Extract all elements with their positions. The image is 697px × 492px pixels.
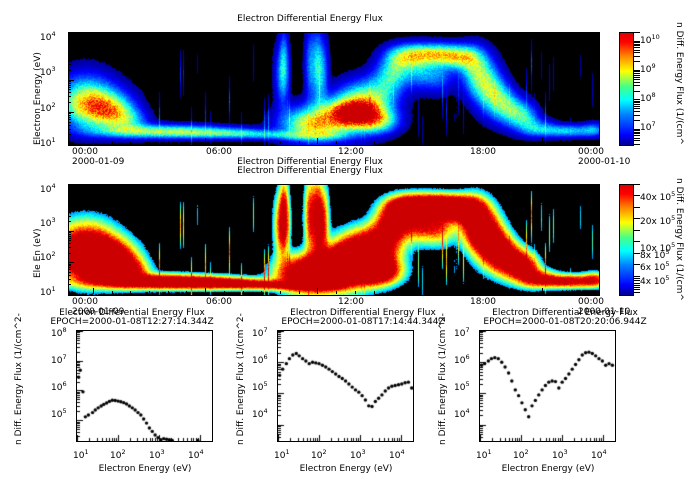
colorbar-tick [633,133,640,134]
colorbar-tick [633,82,640,83]
s3-ytick-5: 105 [454,380,470,393]
colorbar-tick [633,101,640,102]
top-spec-ytick [68,55,71,56]
s3-xtick-2: 102 [513,448,529,461]
colorbar-tick [633,61,640,62]
mid-spec-xtick [355,291,356,294]
top-spec-xtick [486,141,487,144]
top-spec-ytick [68,51,71,52]
top-spec-xtick [280,141,281,144]
top-spec-ytick [68,81,71,82]
top-spec-ytick [68,60,71,61]
top-spec-ytick [68,70,71,71]
mid-spec-ytick [68,264,71,265]
mid-xtick-1: 06:00 [206,297,232,307]
middle-colorbar[interactable] [619,184,634,296]
mid-spec-xtick [317,288,318,294]
top-spec-xtick [186,141,187,144]
top-spec-xtick [523,141,524,144]
s1-xtick-2: 102 [110,448,126,461]
mid-spec-xtick [523,291,524,294]
top-ytick-3: 103 [40,65,56,78]
top-spec-xtick [579,141,580,144]
top-spec-ytick [68,49,71,50]
top-spec-ytick [68,119,71,120]
spectrum-1-plot[interactable] [76,330,213,442]
colorbar-tick [633,56,640,57]
colorbar-tick [633,108,640,109]
colorbar-tick [633,280,640,281]
mid-spec-ytick [68,234,71,235]
top-spec-ytick [68,80,74,81]
top-spec-xtick [392,141,393,144]
mid-spec-xtick [243,291,244,294]
mid-spec-ytick [68,212,71,213]
mid-spec-ytick [68,284,71,285]
s2-xtick-3: 103 [350,448,366,461]
top-spec-ytick [68,32,71,33]
colorbar-tick [633,138,640,139]
mid-spec-ytick [68,209,71,210]
top-xtick-3: 18:00 [470,147,496,157]
colorbar-tick [633,104,640,105]
mid-cbtick-4: 4x 105 [640,274,670,287]
mid-spec-xtick [374,291,375,294]
colorbar-tick [633,292,640,293]
colorbar-tick [633,144,640,145]
colorbar-tick [633,32,640,33]
middle-spectrogram-plot[interactable] [68,184,600,296]
top-spec-ytick [68,87,71,88]
mid-spec-ytick [68,262,74,263]
top-spec-xtick [374,141,375,144]
colorbar-tick [633,253,640,254]
mid-spec-ytick [68,202,71,203]
mid-spec-ytick [68,269,71,270]
s2-xtick-4: 104 [389,448,405,461]
s1-xtick-4: 104 [188,448,204,461]
top-spec-xtick [130,141,131,144]
mid-spec-xtick [168,291,169,294]
mid-ytick-1: 101 [40,285,56,298]
spectrum-1-xlabel: Electron Energy (eV) [60,464,230,474]
colorbar-tick [633,135,640,136]
colorbar-tick [633,99,640,100]
top-spec-ytick [68,112,74,113]
colorbar-tick [633,52,640,53]
spectrum-3-plot[interactable] [479,330,616,442]
top-spec-ytick [68,85,71,86]
colorbar-tick [633,287,640,288]
colorbar-tick [633,77,640,78]
mid-spec-ytick [68,279,71,280]
s2-xtick-2: 102 [311,448,327,461]
s2-ytick-5: 105 [252,380,268,393]
top-spec-ytick [68,122,71,123]
top-spec-ytick [68,64,71,65]
colorbar-tick [633,195,640,196]
mid-spec-xtick [186,291,187,294]
top-spec-ytick [68,52,71,53]
colorbar-tick [633,50,640,51]
top-spec-xtick [411,141,412,144]
mid-spec-ytick [68,184,71,185]
mid-spec-xtick [93,288,94,294]
top-spec-ytick [68,57,71,58]
mid-spec-xtick [149,291,150,294]
colorbar-tick [633,75,640,76]
colorbar-tick [633,130,640,131]
mid-spec-ytick [68,236,71,237]
top-spec-ytick [68,102,71,103]
top-spec-xtick [355,141,356,144]
mid-spec-ytick [68,267,71,268]
mid-spec-ytick [68,206,71,207]
s1-ytick-7: 107 [51,353,67,366]
top-spec-ytick [68,113,71,114]
mid-spec-xtick [542,288,543,294]
top-xtick-0: 00:00 [72,147,98,157]
top-cbtick-9: 109 [640,62,656,75]
s3-xtick-4: 104 [591,448,607,461]
s3-xtick-3: 103 [552,448,568,461]
s2-ytick-6: 106 [252,353,268,366]
s3-xtick-1: 101 [476,448,492,461]
s1-ytick-5: 105 [51,407,67,420]
mid-spec-ytick [68,238,71,239]
top-ytick-2: 102 [40,101,56,114]
mid-ytick-4: 104 [40,182,56,195]
colorbar-tick [633,283,640,284]
mid-ytick-2: 102 [40,250,56,263]
mid-spec-xtick [112,291,113,294]
mid-spec-xtick [430,288,431,294]
top-spec-ytick [68,83,71,84]
colorbar-tick [633,71,640,72]
top-spec-xtick [448,141,449,144]
top-spec-xtick [243,141,244,144]
mid-spec-xtick [261,291,262,294]
mid-spec-ytick [68,247,71,248]
top-panel-title: Electron Differential Energy Flux [0,14,620,24]
spectrum-3-subtitle: EPOCH=2000-01-08T20:20:06.944Z [455,317,675,327]
mid-spec-ytick [68,221,71,222]
colorbar-tick [633,111,640,112]
mid-spec-ytick [68,232,71,233]
top-cbtick-8: 108 [640,91,656,104]
top-cbtick-10: 1010 [640,33,660,46]
colorbar-tick [633,41,640,42]
spectrum-2-xlabel: Electron Energy (eV) [261,464,431,474]
middle-panel-title: Electron Differential Energy Flux [0,166,620,176]
mid-cbtick-20: 20x 105 [640,214,675,227]
top-xtick-4: 00:00 [578,147,604,157]
mid-xtick-0: 00:00 [72,297,98,307]
colorbar-tick [633,285,640,286]
mid-ytick-3: 103 [40,216,56,229]
mid-spec-xtick [392,291,393,294]
mid-spec-xtick [504,291,505,294]
colorbar-tick [633,45,640,46]
s3-ytick-4: 104 [454,407,470,420]
colorbar-tick [633,264,640,265]
top-spec-ytick [68,115,71,116]
top-spec-xtick [149,141,150,144]
s2-xtick-1: 101 [274,448,290,461]
s2-ytick-7: 107 [252,326,268,339]
figure-canvas: Electron Differential Energy Flux Electr… [0,0,697,492]
top-spec-ytick [68,129,71,130]
colorbar-tick [633,230,640,231]
colorbar-tick [633,91,640,92]
s1-ytick-6: 106 [51,380,67,393]
top-spec-xtick [317,138,318,144]
colorbar-tick [633,115,640,116]
top-spec-xtick [504,141,505,144]
s1-xtick-1: 101 [73,448,89,461]
mid-spec-ytick [68,265,71,266]
top-spec-xtick [205,138,206,144]
s2-ytick-4: 104 [252,407,268,420]
colorbar-tick [633,120,640,121]
mid-spec-ytick [68,253,71,254]
colorbar-tick [633,44,640,45]
top-colorbar[interactable] [619,32,634,146]
colorbar-tick [633,276,640,277]
mid-spec-ytick [68,275,71,276]
spectrum-2-plot[interactable] [277,330,414,442]
top-spec-xtick [299,141,300,144]
mid-spec-ytick [68,243,71,244]
mid-spec-xtick [448,291,449,294]
top-cbtick-7: 107 [640,120,656,133]
colorbar-tick [633,289,640,290]
s1-ytick-8: 108 [51,326,67,339]
top-ytick-1: 101 [40,136,56,149]
top-spec-ytick [68,89,71,90]
mid-spec-xtick [336,291,337,294]
colorbar-tick [633,106,640,107]
mid-spec-ytick [68,201,71,202]
mid-spec-xtick [486,291,487,294]
top-spec-ytick [68,38,71,39]
mid-spec-xtick [224,291,225,294]
mid-spec-ytick [68,294,74,295]
top-spec-ytick [68,96,71,97]
mid-spec-ytick [68,190,71,191]
colorbar-tick [633,241,640,242]
colorbar-tick [633,207,640,208]
top-spec-xtick [336,141,337,144]
top-spec-xtick [561,141,562,144]
top-xtick-2: 12:00 [338,147,364,157]
mid-xtick-4: 00:00 [578,297,604,307]
colorbar-tick [633,132,640,133]
mid-spec-xtick [411,291,412,294]
mid-spec-ytick [68,199,74,200]
top-spec-ytick [68,117,71,118]
top-spec-ytick [68,47,74,48]
mid-spec-xtick [280,291,281,294]
colorbar-tick [633,140,640,141]
mid-xtick-2: 12:00 [338,297,364,307]
colorbar-tick [633,47,640,48]
top-spec-xtick [112,141,113,144]
top-spec-xtick [430,138,431,144]
colorbar-tick [633,184,640,185]
colorbar-tick [633,278,640,279]
mid-spec-ytick [68,216,71,217]
top-spectrogram-plot[interactable] [68,32,600,146]
mid-spec-ytick [68,231,74,232]
top-spec-xtick [467,141,468,144]
mid-spec-ytick [68,204,71,205]
top-spec-xtick [261,141,262,144]
mid-cbtick-6: 6x 105 [640,260,670,273]
colorbar-tick [633,73,640,74]
top-spec-ytick [68,134,71,135]
colorbar-tick [633,102,640,103]
mid-spec-xtick [299,291,300,294]
colorbar-tick [633,85,640,86]
mid-spec-xtick [130,291,131,294]
mid-spec-xtick [205,288,206,294]
s1-xtick-3: 103 [149,448,165,461]
mid-spec-xtick [467,291,468,294]
mid-cbtick-40: 40x 105 [640,190,675,203]
top-spec-ytick [68,125,71,126]
top-spec-ytick [68,92,71,93]
colorbar-tick [633,79,640,80]
colorbar-tick [633,70,640,71]
top-spec-xtick [224,141,225,144]
top-ytick-4: 104 [40,30,56,43]
top-spec-ytick [68,144,74,145]
colorbar-tick [633,42,640,43]
mid-xtick-3: 18:00 [470,297,496,307]
top-spec-xtick [542,138,543,144]
spectrum-3-xlabel: Electron Energy (eV) [463,464,633,474]
top-spec-xtick [168,141,169,144]
s3-ytick-6: 106 [454,353,470,366]
mid-spec-xtick [579,291,580,294]
mid-spec-ytick [68,240,71,241]
mid-spec-xtick [561,291,562,294]
mid-spec-ytick [68,272,71,273]
top-xtick-1: 06:00 [206,147,232,157]
s3-ytick-7: 107 [454,326,470,339]
top-spec-xtick [93,138,94,144]
colorbar-tick [633,218,640,219]
